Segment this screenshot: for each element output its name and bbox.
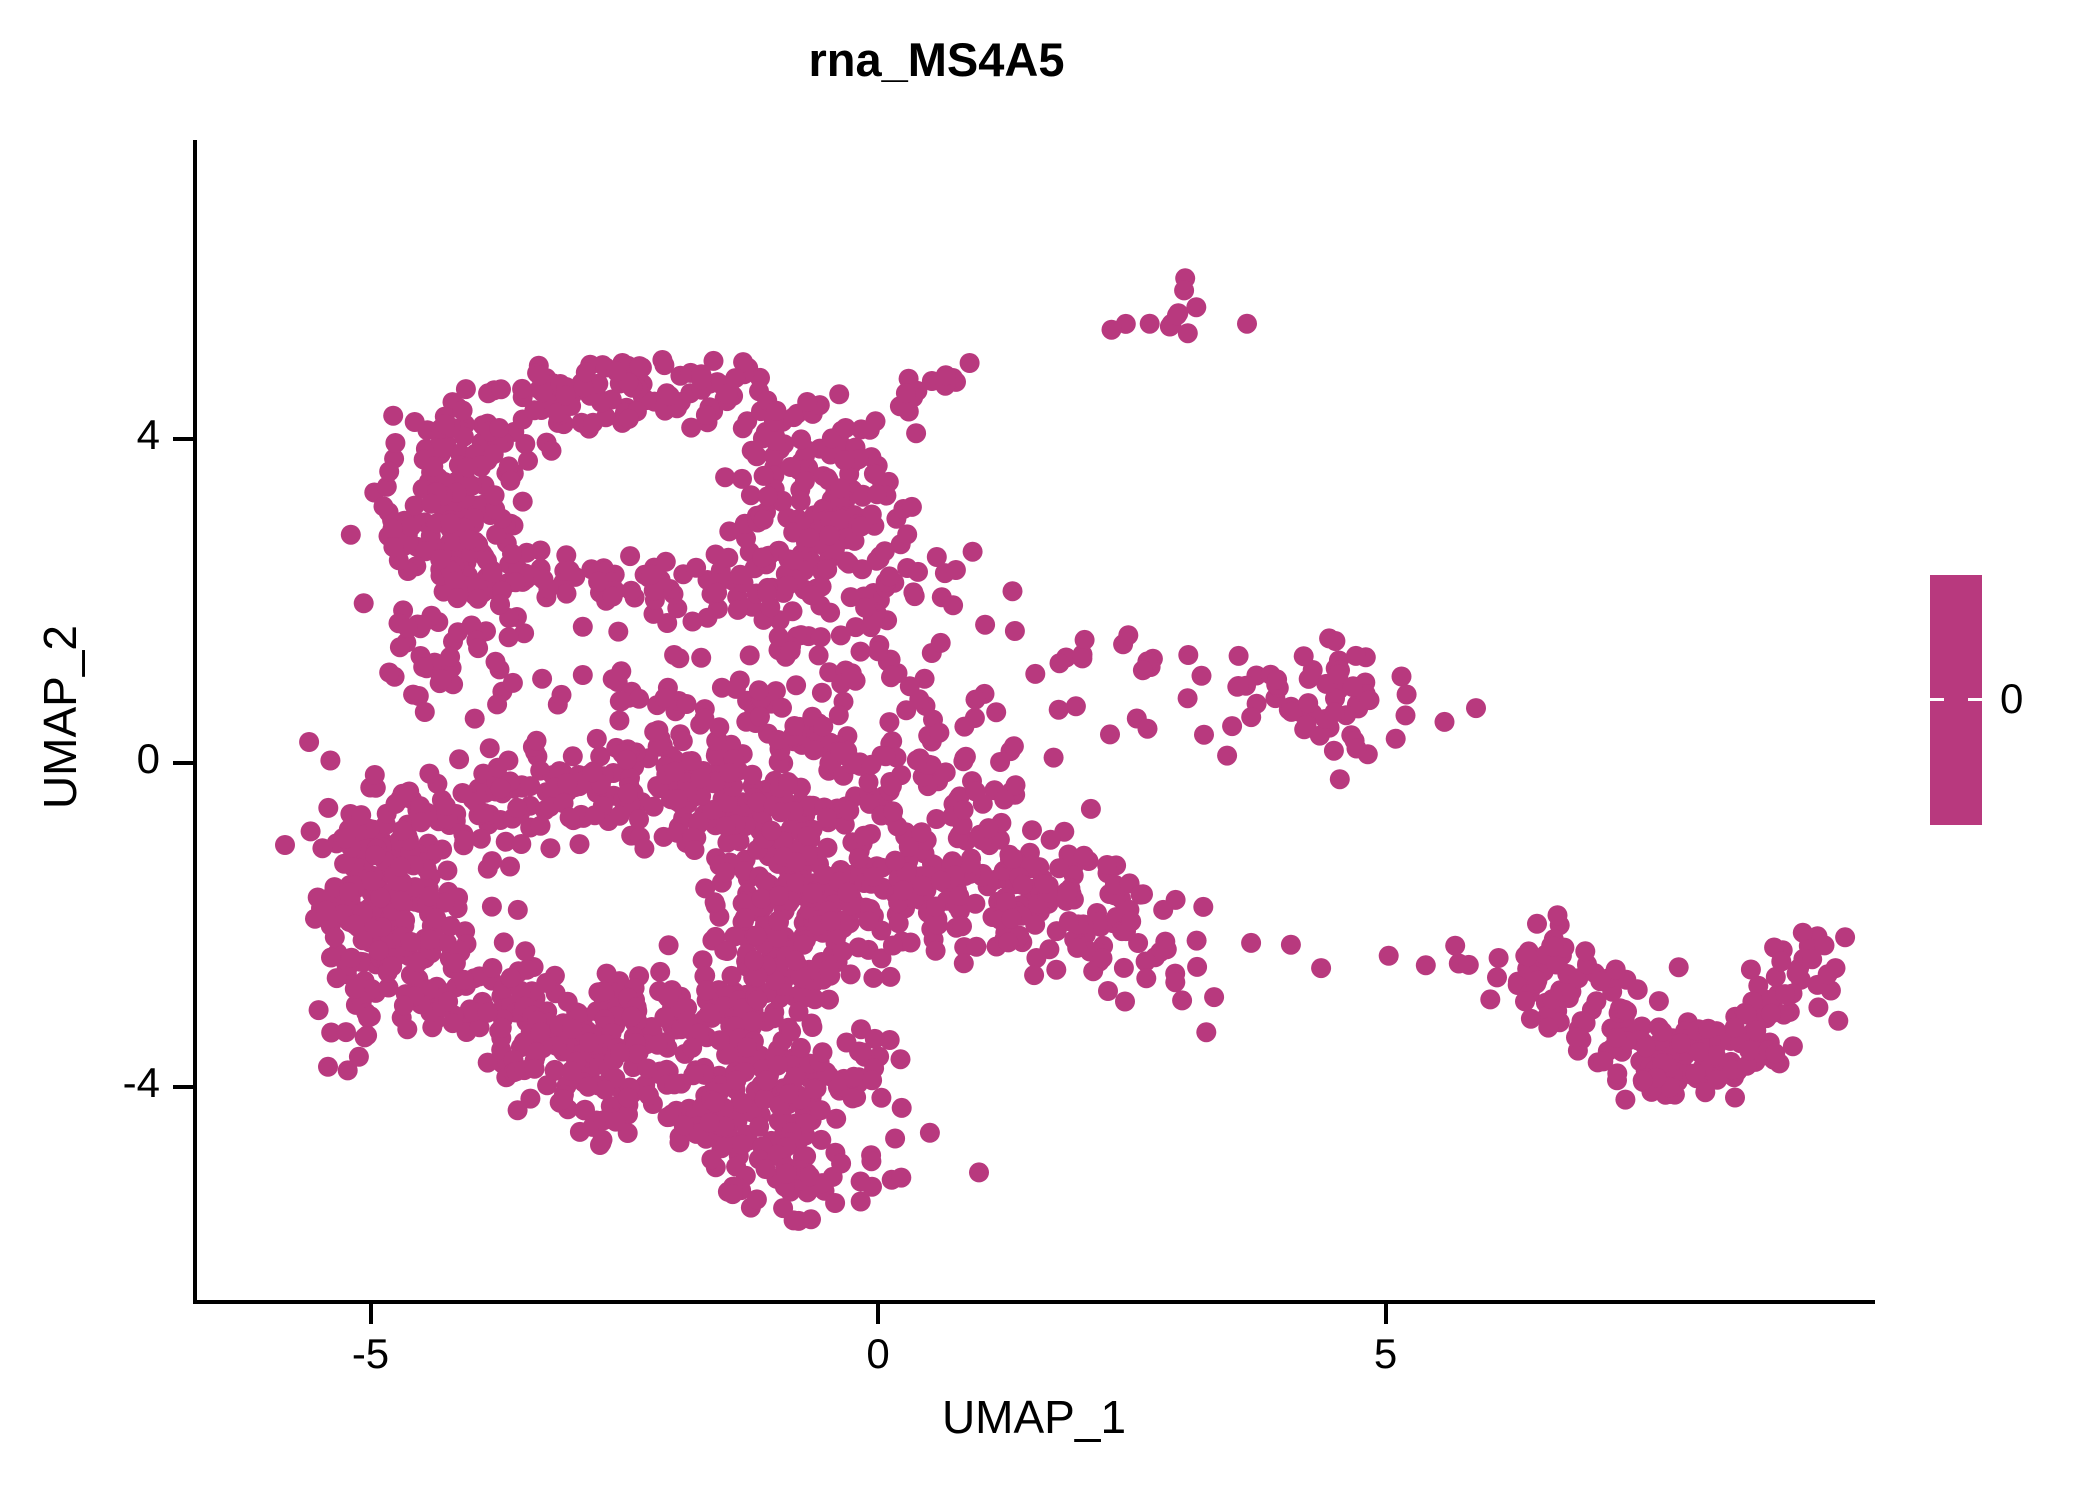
scatter-point <box>883 801 903 821</box>
x-axis-title: UMAP_1 <box>193 1390 1875 1444</box>
scatter-point <box>701 1149 721 1169</box>
scatter-point <box>465 709 485 729</box>
scatter-point <box>1324 741 1344 761</box>
scatter-point <box>768 911 788 931</box>
scatter-point <box>1325 702 1345 722</box>
scatter-point <box>862 1070 882 1090</box>
scatter-point <box>553 1090 573 1110</box>
scatter-point <box>321 948 341 968</box>
scatter-point <box>629 689 649 709</box>
scatter-point <box>397 1019 417 1039</box>
scatter-point <box>1187 931 1207 951</box>
y-tick-label: -4 <box>10 1059 160 1107</box>
scatter-point <box>1835 927 1855 947</box>
umap-scatter-plot: rna_MS4A5 40-4 -505 UMAP_1 UMAP_2 0 <box>0 0 2100 1500</box>
scatter-point <box>1761 1004 1781 1024</box>
scatter-point <box>818 838 838 858</box>
scatter-point <box>831 742 851 762</box>
scatter-point <box>789 1002 809 1022</box>
scatter-point <box>644 722 664 742</box>
scatter-point <box>705 1092 725 1112</box>
scatter-point <box>749 680 769 700</box>
scatter-point <box>552 685 572 705</box>
x-tick-mark <box>876 1304 880 1324</box>
scatter-point <box>1325 631 1345 651</box>
scatter-point <box>677 694 697 714</box>
scatter-point <box>403 685 423 705</box>
scatter-point <box>839 801 859 821</box>
scatter-point <box>781 457 801 477</box>
scatter-point <box>1046 960 1066 980</box>
scatter-point <box>772 698 792 718</box>
scatter-point <box>1802 949 1822 969</box>
scatter-point <box>398 618 418 638</box>
x-tick-mark <box>1384 1304 1388 1324</box>
scatter-point <box>812 683 832 703</box>
scatter-point <box>1347 739 1367 759</box>
scatter-point <box>608 622 628 642</box>
scatter-point <box>1187 957 1207 977</box>
scatter-point <box>491 379 511 399</box>
scatter-point <box>1741 960 1761 980</box>
x-tick-mark <box>369 1304 373 1324</box>
scatter-point <box>1590 971 1610 991</box>
scatter-point <box>365 845 385 865</box>
scatter-point <box>882 665 902 685</box>
scatter-point <box>336 829 356 849</box>
scatter-point <box>906 423 926 443</box>
scatter-point <box>540 838 560 858</box>
scatter-point <box>952 916 972 936</box>
y-tick-label: 4 <box>10 411 160 459</box>
y-axis-title: UMAP_2 <box>33 467 87 967</box>
scatter-point <box>487 694 507 714</box>
scatter-point <box>811 1100 831 1120</box>
scatter-point <box>1013 875 1033 895</box>
scatter-point <box>650 962 670 982</box>
scatter-point <box>336 1022 356 1042</box>
scatter-point <box>791 1038 811 1058</box>
scatter-point <box>1140 314 1160 334</box>
scatter-point <box>691 768 711 788</box>
scatter-point <box>420 930 440 950</box>
scatter-point <box>585 805 605 825</box>
scatter-point <box>755 872 775 892</box>
scatter-point <box>1416 955 1436 975</box>
scatter-point <box>740 645 760 665</box>
scatter-point <box>733 418 753 438</box>
scatter-point <box>1138 719 1158 739</box>
scatter-point <box>560 561 580 581</box>
scatter-point <box>421 494 441 514</box>
scatter-point <box>1004 736 1024 756</box>
scatter-point <box>583 413 603 433</box>
scatter-point <box>784 1210 804 1230</box>
scatter-point <box>320 751 340 771</box>
y-tick-mark <box>173 1085 193 1089</box>
scatter-point <box>1115 992 1135 1012</box>
scatter-point <box>726 1070 746 1090</box>
scatter-point <box>354 593 374 613</box>
scatter-point <box>668 789 688 809</box>
scatter-point <box>931 633 951 653</box>
scatter-point <box>1299 669 1319 689</box>
scatter-point <box>786 852 806 872</box>
scatter-point <box>1241 707 1261 727</box>
plot-canvas <box>193 140 1873 1302</box>
scatter-point <box>891 1168 911 1188</box>
scatter-point <box>659 935 679 955</box>
scatter-point <box>994 790 1014 810</box>
scatter-point <box>316 901 336 921</box>
scatter-point <box>720 763 740 783</box>
scatter-point <box>392 820 412 840</box>
scatter-point <box>468 638 488 658</box>
scatter-point <box>525 1059 545 1079</box>
y-tick-mark <box>173 437 193 441</box>
scatter-point <box>783 550 803 570</box>
scatter-point <box>579 1033 599 1053</box>
scatter-point <box>891 1049 911 1069</box>
scatter-point <box>813 1042 833 1062</box>
scatter-point <box>709 717 729 737</box>
scatter-point <box>448 622 468 642</box>
scatter-point <box>1100 724 1120 744</box>
scatter-point <box>804 740 824 760</box>
scatter-point <box>1653 1022 1673 1042</box>
scatter-point <box>1196 1022 1216 1042</box>
scatter-point <box>861 755 881 775</box>
scatter-point <box>518 451 538 471</box>
scatter-point <box>1360 690 1380 710</box>
scatter-point <box>641 565 661 585</box>
scatter-point <box>275 835 295 855</box>
scatter-point <box>327 968 347 988</box>
scatter-point <box>1025 915 1045 935</box>
scatter-point <box>771 802 791 822</box>
scatter-point <box>1633 1070 1653 1090</box>
scatter-point <box>1281 935 1301 955</box>
scatter-point <box>852 1042 872 1062</box>
scatter-point <box>1237 314 1257 334</box>
scatter-point <box>882 776 902 796</box>
scatter-point <box>1396 705 1416 725</box>
scatter-point <box>954 953 974 973</box>
scatter-point <box>401 932 421 952</box>
scatter-point <box>533 382 553 402</box>
scatter-point <box>791 491 811 511</box>
scatter-point <box>1025 664 1045 684</box>
scatter-point <box>892 1098 912 1118</box>
scatter-point <box>963 542 983 562</box>
scatter-point <box>861 1151 881 1171</box>
scatter-point <box>447 588 467 608</box>
scatter-point <box>325 927 345 947</box>
scatter-point <box>1548 905 1568 925</box>
scatter-point <box>896 383 916 403</box>
scatter-point <box>351 805 371 825</box>
scatter-point <box>1194 725 1214 745</box>
scatter-point <box>855 598 875 618</box>
scatter-point <box>1067 938 1087 958</box>
scatter-point <box>1003 849 1023 869</box>
scatter-point <box>1746 1021 1766 1041</box>
scatter-point <box>695 878 715 898</box>
scatter-point <box>746 926 766 946</box>
scatter-point <box>349 1047 369 1067</box>
scatter-point <box>1241 933 1261 953</box>
scatter-point <box>1826 958 1846 978</box>
scatter-point <box>480 738 500 758</box>
scatter-point <box>797 392 817 412</box>
scatter-point <box>844 1067 864 1087</box>
scatter-point <box>778 772 798 792</box>
scatter-point <box>1102 320 1122 340</box>
scatter-point <box>851 1192 871 1212</box>
scatter-point <box>1586 991 1606 1011</box>
scatter-point <box>908 562 928 582</box>
x-tick-label: 5 <box>1374 1330 1397 1378</box>
scatter-point <box>527 731 547 751</box>
scatter-point <box>838 883 858 903</box>
scatter-point <box>1706 1045 1726 1065</box>
scatter-point <box>723 1184 743 1204</box>
scatter-point <box>1459 955 1479 975</box>
scatter-point <box>531 816 551 836</box>
scatter-point <box>449 749 469 769</box>
scatter-point <box>634 839 654 859</box>
scatter-point <box>777 1164 797 1184</box>
scatter-point <box>1617 1001 1637 1021</box>
scatter-point <box>1527 971 1547 991</box>
scatter-point <box>809 645 829 665</box>
scatter-point <box>931 871 951 891</box>
scatter-point <box>784 716 804 736</box>
scatter-point <box>665 762 685 782</box>
scatter-point <box>854 826 874 846</box>
scatter-point <box>868 641 888 661</box>
scatter-point <box>492 1018 512 1038</box>
scatter-point <box>557 773 577 793</box>
scatter-point <box>778 576 798 596</box>
scatter-point <box>411 812 431 832</box>
scatter-point <box>831 625 851 645</box>
scatter-point <box>618 1088 638 1108</box>
scatter-point <box>682 751 702 771</box>
scatter-point <box>383 537 403 557</box>
scatter-point <box>500 471 520 491</box>
scatter-point <box>629 809 649 829</box>
scatter-point <box>718 548 738 568</box>
scatter-point <box>725 368 745 388</box>
scatter-point <box>825 1193 845 1213</box>
scatter-point <box>811 627 831 647</box>
colorbar-tick-right <box>1968 698 1982 701</box>
scatter-point <box>1174 280 1194 300</box>
scatter-point <box>1544 937 1564 957</box>
scatter-point <box>817 559 837 579</box>
scatter-point <box>1133 660 1153 680</box>
scatter-point <box>362 871 382 891</box>
scatter-point <box>742 765 762 785</box>
scatter-point <box>979 818 999 838</box>
scatter-point <box>391 891 411 911</box>
scatter-point <box>1521 1009 1541 1029</box>
scatter-point <box>1466 698 1486 718</box>
scatter-point <box>622 1007 642 1027</box>
scatter-point <box>742 441 762 461</box>
scatter-point <box>954 800 974 820</box>
scatter-point <box>1098 981 1118 1001</box>
scatter-point <box>785 950 805 970</box>
scatter-point <box>1153 900 1173 920</box>
scatter-point <box>1131 885 1151 905</box>
scatter-point <box>386 794 406 814</box>
scatter-point <box>401 517 421 537</box>
scatter-point <box>885 1129 905 1149</box>
scatter-point <box>341 525 361 545</box>
scatter-point <box>1041 830 1061 850</box>
scatter-point <box>494 932 514 952</box>
scatter-point <box>607 362 627 382</box>
scatter-point <box>610 1043 630 1063</box>
scatter-point <box>512 379 532 399</box>
scatter-point <box>436 796 456 816</box>
scatter-point <box>737 1037 757 1057</box>
x-tick-label: 0 <box>866 1330 889 1378</box>
scatter-point <box>482 851 502 871</box>
y-tick-mark <box>173 761 193 765</box>
scatter-point <box>1330 769 1350 789</box>
scatter-point <box>1649 991 1669 1011</box>
scatter-point <box>1022 820 1042 840</box>
scatter-point <box>871 1088 891 1108</box>
scatter-point <box>1178 688 1198 708</box>
scatter-point <box>867 484 887 504</box>
scatter-point <box>715 862 735 882</box>
scatter-point <box>1044 748 1064 768</box>
scatter-point <box>1636 1037 1656 1057</box>
scatter-point <box>482 897 502 917</box>
scatter-point <box>434 438 454 458</box>
scatter-point <box>710 1030 730 1050</box>
scatter-point <box>1435 712 1455 732</box>
scatter-point <box>557 584 577 604</box>
scatter-point <box>966 690 986 710</box>
colorbar-tick-left <box>1930 698 1944 701</box>
scatter-point <box>673 731 693 751</box>
scatter-point <box>507 798 527 818</box>
scatter-point <box>438 992 458 1012</box>
scatter-point <box>1379 946 1399 966</box>
scatter-point <box>1294 646 1314 666</box>
scatter-point <box>1075 630 1095 650</box>
scatter-point <box>686 558 706 578</box>
scatter-point <box>747 1189 767 1209</box>
scatter-point <box>817 808 837 828</box>
scatter-point <box>859 911 879 931</box>
scatter-point <box>954 717 974 737</box>
scatter-point <box>698 608 718 628</box>
scatter-point <box>803 883 823 903</box>
scatter-point <box>563 746 583 766</box>
scatter-point <box>1072 648 1092 668</box>
scatter-point <box>767 401 787 421</box>
scatter-point <box>1281 702 1301 722</box>
scatter-point <box>730 565 750 585</box>
scatter-point <box>357 1025 377 1045</box>
scatter-point <box>885 851 905 871</box>
scatter-point <box>1765 1043 1785 1063</box>
scatter-point <box>1229 646 1249 666</box>
scatter-point <box>611 691 631 711</box>
scatter-point <box>618 784 638 804</box>
scatter-point <box>805 989 825 1009</box>
scatter-point <box>990 752 1010 772</box>
scatter-point <box>485 485 505 505</box>
scatter-point <box>764 1008 784 1028</box>
scatter-point <box>851 517 871 537</box>
scatter-point <box>893 881 913 901</box>
scatter-point <box>345 915 365 935</box>
scatter-point <box>1515 991 1535 1011</box>
scatter-point <box>545 1060 565 1080</box>
scatter-point <box>732 469 752 489</box>
scatter-point <box>489 418 509 438</box>
scatter-point <box>820 525 840 545</box>
scatter-point <box>1059 911 1079 931</box>
scatter-point <box>1480 989 1500 1009</box>
scatter-point <box>913 876 933 896</box>
scatter-point <box>779 1084 799 1104</box>
scatter-point <box>576 362 596 382</box>
scatter-point <box>446 953 466 973</box>
scatter-point <box>829 705 849 725</box>
scatter-point <box>732 1135 752 1155</box>
scatter-point <box>339 882 359 902</box>
scatter-point <box>502 544 522 564</box>
scatter-point <box>483 563 503 583</box>
scatter-point <box>820 603 840 623</box>
scatter-point <box>419 764 439 784</box>
scatter-point <box>1081 799 1101 819</box>
scatter-point <box>453 401 473 421</box>
scatter-point <box>735 908 755 928</box>
scatter-point <box>1487 967 1507 987</box>
scatter-point <box>486 652 506 672</box>
scatter-point <box>630 356 650 376</box>
scatter-point <box>1066 696 1086 716</box>
scatter-point <box>717 941 737 961</box>
scatter-point <box>821 911 841 931</box>
scatter-point <box>1204 987 1224 1007</box>
scatter-point <box>499 627 519 647</box>
scatter-point <box>468 589 488 609</box>
scatter-point <box>435 414 455 434</box>
scatter-point <box>524 400 544 420</box>
scatter-point <box>1114 958 1134 978</box>
scatter-point <box>685 840 705 860</box>
scatter-point <box>660 386 680 406</box>
scatter-point <box>926 897 946 917</box>
scatter-point <box>560 808 580 828</box>
scatter-point <box>318 1057 338 1077</box>
scatter-point <box>707 583 727 603</box>
scatter-point <box>529 365 549 385</box>
scatter-point <box>875 541 895 561</box>
scatter-point <box>1217 746 1237 766</box>
scatter-point <box>369 941 389 961</box>
